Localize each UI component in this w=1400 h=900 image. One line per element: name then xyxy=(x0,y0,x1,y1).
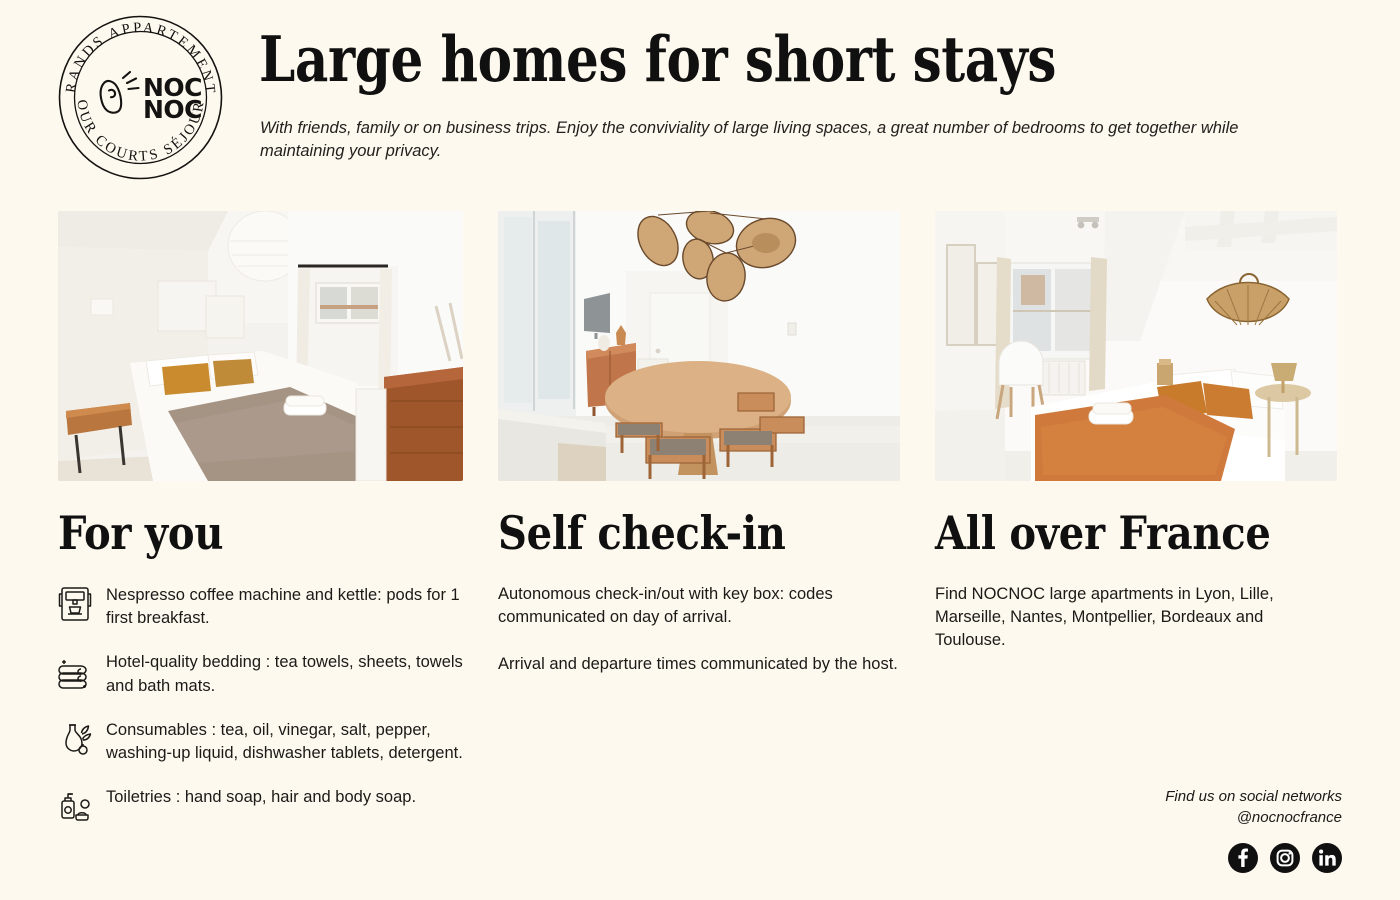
poster-page: GRANDS APPARTEMENTS POUR COURTS SÉJOURS … xyxy=(0,0,1400,900)
body-self-check-in: Autonomous check-in/out with key box: co… xyxy=(498,583,900,676)
feature-item: Hotel-quality bedding : tea towels, shee… xyxy=(58,650,463,697)
body-all-over-france: Find NOCNOC large apartments in Lyon, Li… xyxy=(935,583,1337,652)
paragraph: Arrival and departure times communicated… xyxy=(498,653,900,676)
social-icon-row xyxy=(982,843,1342,873)
coffee-machine-icon xyxy=(58,585,92,625)
feature-text: Hotel-quality bedding : tea towels, shee… xyxy=(106,650,463,697)
feature-text: Nespresso coffee machine and kettle: pod… xyxy=(106,583,463,630)
feature-list-for-you: Nespresso coffee machine and kettle: pod… xyxy=(58,583,463,827)
column-title-self-check-in: Self check-in xyxy=(498,509,848,557)
column-title-all-over-france: All over France xyxy=(935,509,1285,557)
feature-text: Consumables : tea, oil, vinegar, salt, p… xyxy=(106,718,463,765)
social-block: Find us on social networks @nocnocfrance xyxy=(982,786,1342,873)
photo-dining-room xyxy=(498,211,900,481)
content-columns: For you Nespresso coffee machine a xyxy=(0,0,1400,900)
facebook-icon[interactable] xyxy=(1228,843,1258,873)
instagram-icon[interactable] xyxy=(1270,843,1300,873)
feature-item: Consumables : tea, oil, vinegar, salt, p… xyxy=(58,718,463,765)
linkedin-icon[interactable] xyxy=(1312,843,1342,873)
feature-item: Toiletries : hand soap, hair and body so… xyxy=(58,785,463,827)
paragraph: Find NOCNOC large apartments in Lyon, Li… xyxy=(935,583,1337,652)
folded-towels-icon xyxy=(58,652,92,692)
social-handle: @nocnocfrance xyxy=(982,807,1342,828)
paragraph: Autonomous check-in/out with key box: co… xyxy=(498,583,900,629)
column-title-for-you: For you xyxy=(58,509,410,557)
feature-text: Toiletries : hand soap, hair and body so… xyxy=(106,785,416,809)
social-caption-line1: Find us on social networks xyxy=(982,786,1342,807)
column-all-over-france: All over France Find NOCNOC large apartm… xyxy=(935,211,1337,677)
photo-bedroom-lantern xyxy=(58,211,463,481)
photo-attic-bedroom xyxy=(935,211,1337,481)
oil-bottle-herbs-icon xyxy=(58,720,92,760)
column-for-you: For you Nespresso coffee machine a xyxy=(58,211,463,847)
column-self-check-in: Self check-in Autonomous check-in/out wi… xyxy=(498,211,900,701)
feature-item: Nespresso coffee machine and kettle: pod… xyxy=(58,583,463,630)
soap-dispenser-icon xyxy=(58,787,92,827)
